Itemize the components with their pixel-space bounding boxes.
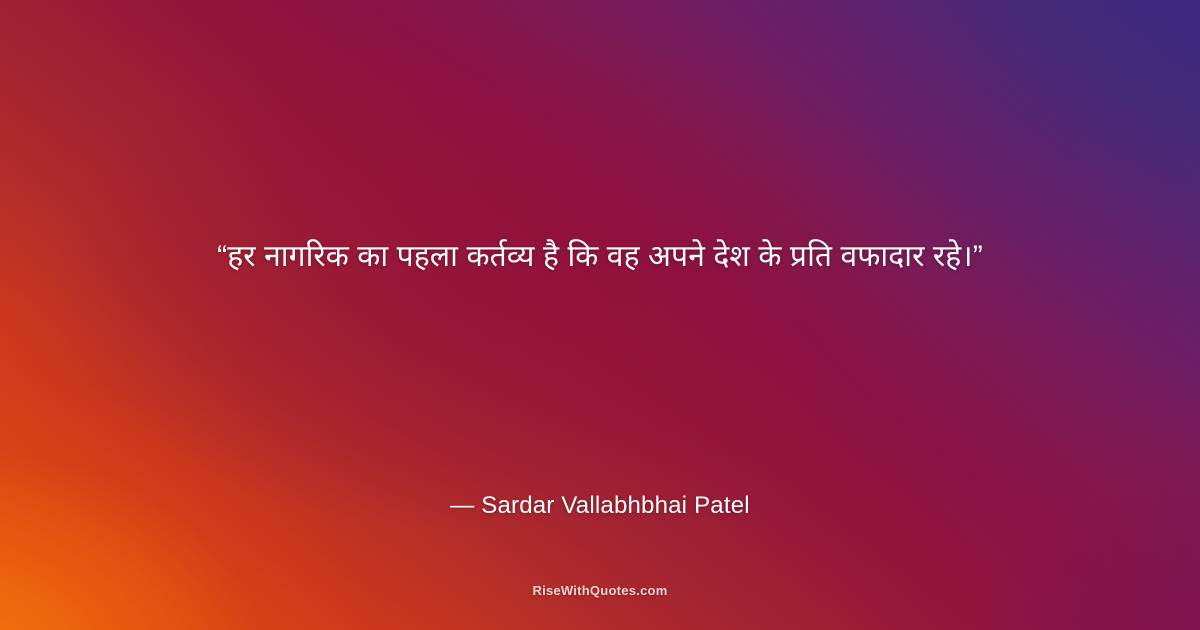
quote-card: “हर नागरिक का पहला कर्तव्य है कि वह अपने… [0,0,1200,630]
card-content: “हर नागरिक का पहला कर्तव्य है कि वह अपने… [0,0,1200,630]
quote-author: — Sardar Vallabhbhai Patel [0,492,1200,520]
site-watermark: RiseWithQuotes.com [0,583,1200,598]
quote-text: “हर नागरिक का पहला कर्तव्य है कि वह अपने… [0,236,1200,279]
